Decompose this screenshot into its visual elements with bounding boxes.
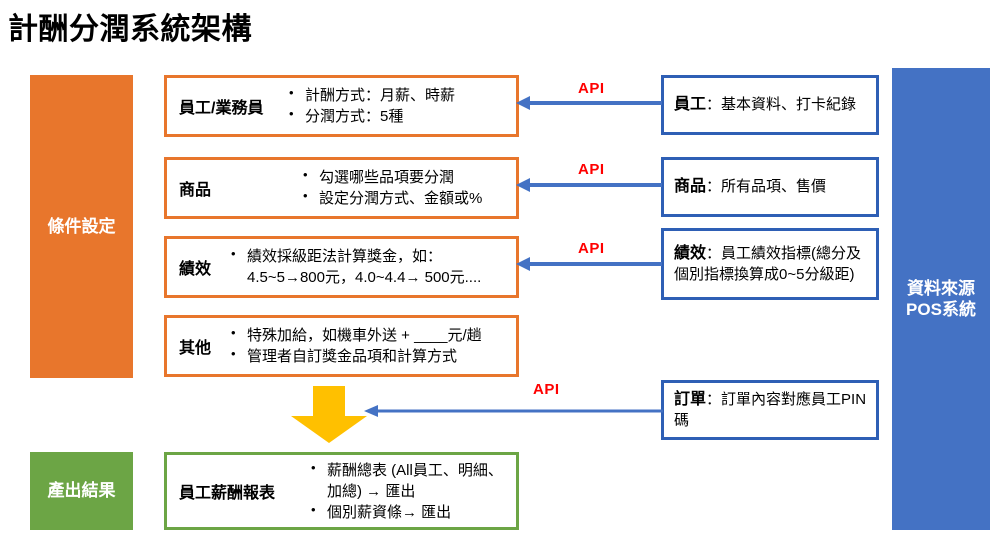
bullet-item: 計酬方式：月薪、時薪: [289, 85, 508, 106]
stage-label-output: 產出結果: [48, 480, 116, 501]
condition-box-body: 計酬方式：月薪、時薪 分潤方式：5種: [289, 85, 508, 127]
source-box-desc: ：基本資料、打卡紀錄: [706, 96, 856, 113]
condition-box-employee: 員工/業務員 計酬方式：月薪、時薪 分潤方式：5種: [164, 75, 519, 137]
source-box-title: 商品: [674, 178, 706, 195]
source-box-title: 訂單: [674, 391, 706, 408]
api-label-performance: API: [578, 240, 605, 257]
bullet-item: 分潤方式：5種: [289, 106, 508, 127]
stage-band-output: 產出結果: [30, 452, 133, 530]
stage-band-conditions: 條件設定: [30, 75, 133, 378]
bullet-item: 個別薪資條→ 匯出: [311, 502, 508, 523]
stage-label-source-line1: 資料來源: [907, 278, 975, 299]
bullet-item: 績效採級距法計算獎金，如： 4.5~5→800元，4.0~4.4→ 500元..…: [231, 246, 510, 288]
bullet-item: 勾選哪些品項要分潤: [303, 167, 508, 188]
api-label-order: API: [533, 381, 560, 398]
flow-down-arrow-icon: [287, 386, 372, 444]
condition-box-title: 商品: [179, 176, 289, 200]
bullet-list: 特殊加給，如機車外送 + ____元/趟 管理者自訂獎金品項和計算方式: [231, 325, 510, 367]
source-box-desc: ：所有品項、售價: [706, 178, 826, 195]
condition-box-performance: 績效 績效採級距法計算獎金，如： 4.5~5→800元，4.0~4.4→ 500…: [164, 236, 519, 298]
condition-box-product: 商品 勾選哪些品項要分潤 設定分潤方式、金額或%: [164, 157, 519, 219]
source-box-title: 員工: [674, 96, 706, 113]
api-label-employee: API: [578, 80, 605, 97]
source-box-product: 商品：所有品項、售價: [661, 157, 879, 217]
stage-label-conditions: 條件設定: [48, 216, 116, 237]
bullet-list: 計酬方式：月薪、時薪 分潤方式：5種: [289, 85, 508, 127]
condition-box-title: 員工/業務員: [179, 94, 289, 118]
source-box-text: 商品：所有品項、售價: [664, 170, 834, 204]
diagram-canvas: 計酬分潤系統架構 條件設定 產出結果 資料來源 POS系統 員工/業務員 計酬方…: [0, 0, 1006, 548]
stage-band-source: 資料來源 POS系統: [892, 68, 990, 530]
condition-box-body: 特殊加給，如機車外送 + ____元/趟 管理者自訂獎金品項和計算方式: [231, 325, 510, 367]
bullet-item: 管理者自訂獎金品項和計算方式: [231, 346, 510, 367]
bullet-list: 勾選哪些品項要分潤 設定分潤方式、金額或%: [303, 167, 508, 209]
condition-box-body: 勾選哪些品項要分潤 設定分潤方式、金額或%: [289, 167, 508, 209]
source-box-order: 訂單：訂單內容對應員工PIN碼: [661, 380, 879, 440]
api-label-product: API: [578, 161, 605, 178]
api-arrow-order: [362, 400, 667, 422]
bullet-item: 薪酬總表 (All員工、明細、加總) → 匯出: [311, 460, 508, 502]
source-box-performance: 績效：員工績效指標(總分及個別指標換算成0~5分級距): [661, 228, 879, 300]
source-box-text: 員工：基本資料、打卡紀錄: [664, 88, 864, 122]
source-box-text: 訂單：訂單內容對應員工PIN碼: [664, 383, 876, 437]
stage-label-source-line2: POS系統: [906, 299, 976, 320]
page-title: 計酬分潤系統架構: [8, 4, 252, 48]
output-box-title: 員工薪酬報表: [179, 479, 297, 503]
bullet-item: 特殊加給，如機車外送 + ____元/趟: [231, 325, 510, 346]
source-box-title: 績效: [674, 245, 706, 262]
output-box-salary-report: 員工薪酬報表 薪酬總表 (All員工、明細、加總) → 匯出 個別薪資條→ 匯出: [164, 452, 519, 530]
condition-box-other: 其他 特殊加給，如機車外送 + ____元/趟 管理者自訂獎金品項和計算方式: [164, 315, 519, 377]
bullet-list: 績效採級距法計算獎金，如： 4.5~5→800元，4.0~4.4→ 500元..…: [231, 246, 510, 288]
condition-box-body: 績效採級距法計算獎金，如： 4.5~5→800元，4.0~4.4→ 500元..…: [231, 246, 510, 288]
condition-box-title: 績效: [179, 255, 231, 279]
bullet-item: 設定分潤方式、金額或%: [303, 188, 508, 209]
source-box-text: 績效：員工績效指標(總分及個別指標換算成0~5分級距): [664, 237, 876, 291]
condition-box-title: 其他: [179, 334, 231, 358]
bullet-list: 薪酬總表 (All員工、明細、加總) → 匯出 個別薪資條→ 匯出: [311, 460, 508, 523]
output-box-body: 薪酬總表 (All員工、明細、加總) → 匯出 個別薪資條→ 匯出: [297, 460, 508, 523]
source-box-employee: 員工：基本資料、打卡紀錄: [661, 75, 879, 135]
